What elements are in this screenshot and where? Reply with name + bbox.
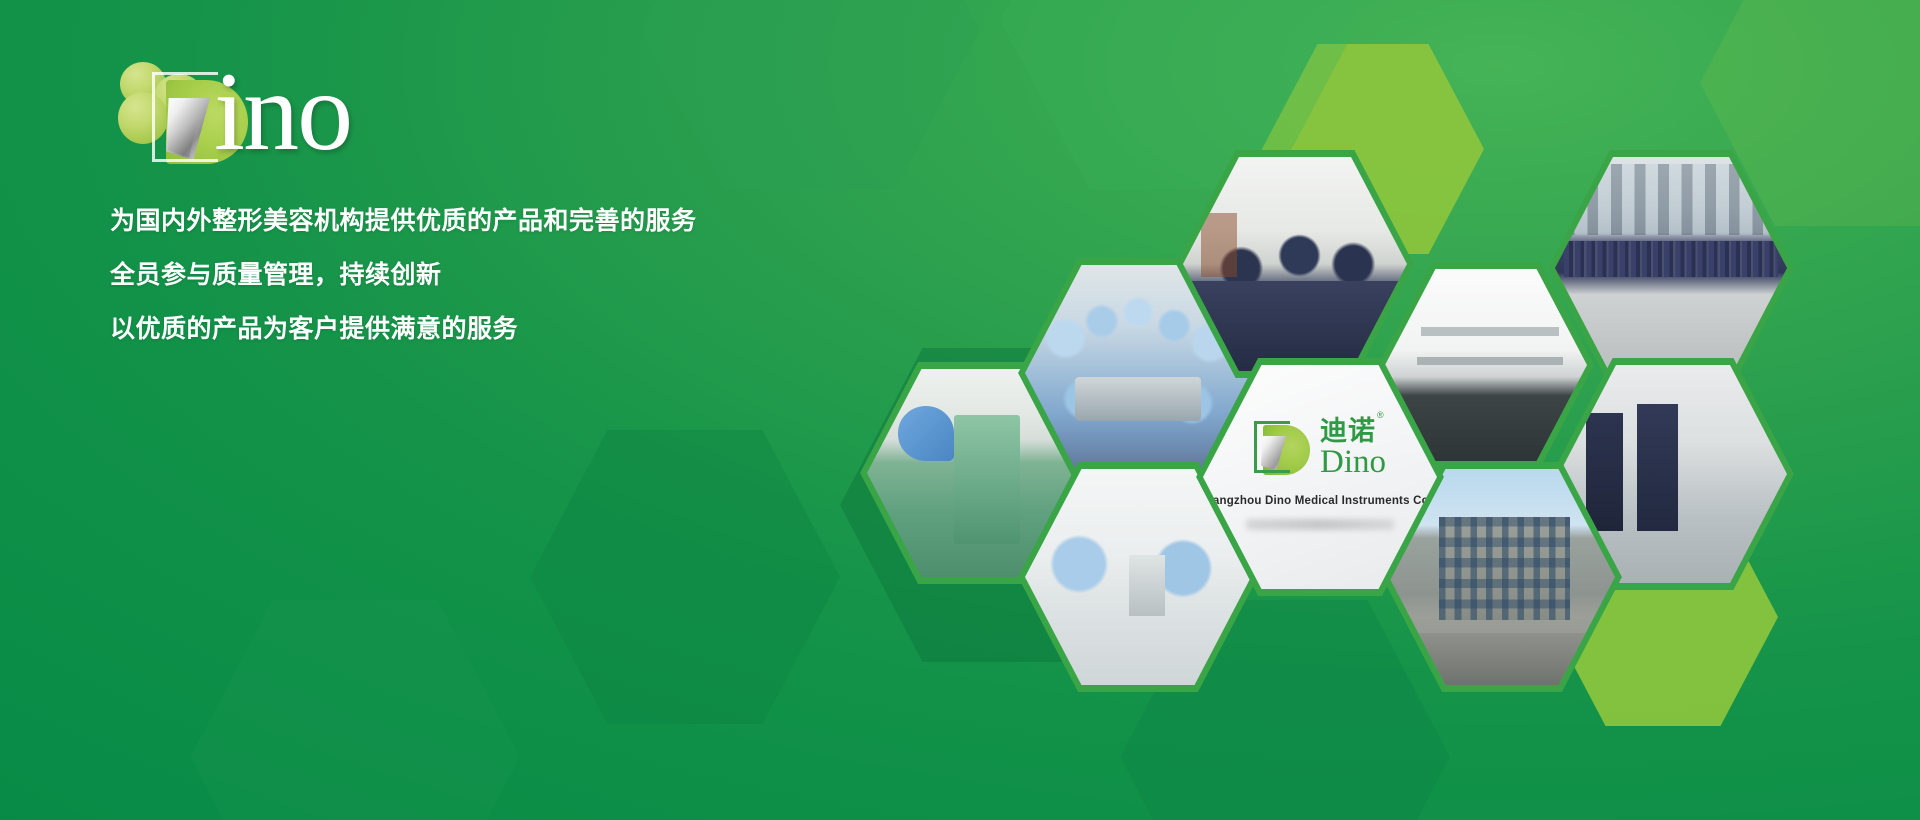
company-name: Hangzhou Dino Medical Instruments Co.. <box>1204 495 1435 507</box>
blurred-subtext <box>1246 519 1394 530</box>
center-logo-cn-text: 迪诺 <box>1320 416 1376 446</box>
tagline-1: 为国内外整形美容机构提供优质的产品和完善的服务 <box>110 209 970 234</box>
center-logo-cn: 迪诺® <box>1320 418 1386 445</box>
brand-logo[interactable]: ino <box>118 60 418 165</box>
center-brand-logo: 迪诺® Dino <box>1254 418 1386 479</box>
dino-d-mark-icon-small <box>1254 421 1310 477</box>
tagline-list: 为国内外整形美容机构提供优质的产品和完善的服务 全员参与质量管理，持续创新 以优… <box>110 209 970 342</box>
center-logo-en: Dino <box>1320 446 1386 479</box>
hero-copy: ino 为国内外整形美容机构提供优质的产品和完善的服务 全员参与质量管理，持续创… <box>110 60 970 371</box>
registered-mark: ® <box>1377 410 1385 420</box>
tagline-3: 以优质的产品为客户提供满意的服务 <box>110 317 970 342</box>
tagline-2: 全员参与质量管理，持续创新 <box>110 263 970 288</box>
brand-wordmark: ino <box>214 56 351 168</box>
hero-banner: ino 为国内外整形美容机构提供优质的产品和完善的服务 全员参与质量管理，持续创… <box>0 0 1920 820</box>
